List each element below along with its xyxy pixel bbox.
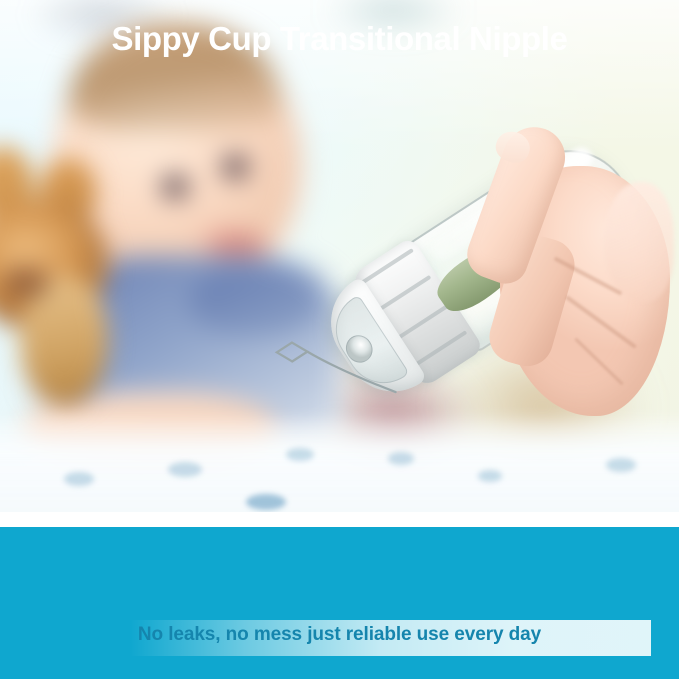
product-photo [0,0,679,514]
teddy-bear [0,140,156,440]
baby-eye-right [222,156,248,178]
baby-eye-left [162,176,188,198]
teddy-nose [2,266,50,300]
banner-subtitle: No leaks, no mess just reliable use ever… [0,624,679,646]
product-image-card: Sippy Cup Transitional Nipple No leaks, … [0,0,679,679]
collar-ridge [377,275,431,312]
collar-ridge [360,248,414,285]
banner-title: Sippy Cup Transitional Nipple [0,20,679,58]
collar-ridge [396,303,450,340]
sheet-dot [246,494,286,510]
sheet-dot [478,470,502,482]
sheet-dot [286,448,314,461]
sheet-dot [64,472,94,486]
caption-banner [0,527,679,679]
thumb-web [604,182,674,302]
sheet-dot [606,458,636,472]
sheet-dot [168,462,202,477]
photo-banner-seam [0,512,679,528]
hand [454,124,679,424]
sheet-dot [388,452,414,465]
baby-mouth [210,234,266,258]
product-assembly [330,52,670,412]
